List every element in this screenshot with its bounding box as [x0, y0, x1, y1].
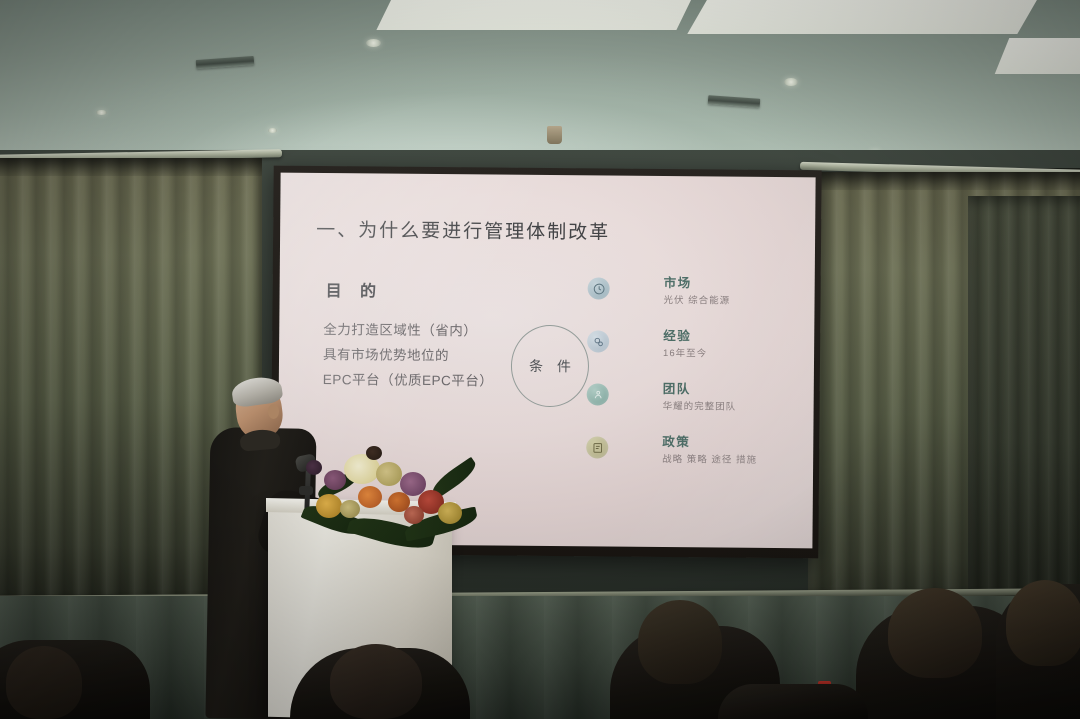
pillar-subtitle: 战略 策略 途径 措施 — [662, 451, 757, 466]
pillar-title: 政策 — [662, 431, 690, 450]
document-icon — [586, 436, 608, 458]
ceiling-downlight — [366, 39, 381, 47]
curtain-far-right — [968, 196, 1080, 606]
ceiling-downlight — [268, 128, 277, 133]
flower-arrangement — [300, 448, 472, 558]
audience-head — [638, 600, 722, 684]
ceiling-panel — [995, 38, 1080, 74]
ceiling-downlight — [96, 110, 107, 115]
audience-head — [330, 644, 422, 719]
pillar-subtitle: 16年至今 — [663, 345, 707, 359]
pillar-item-policy: 政策 战略 策略 途径 措施 — [586, 430, 796, 485]
purpose-heading: 目 的 — [326, 277, 384, 302]
ceiling-vent — [708, 95, 761, 108]
condition-circle-label: 条 件 — [529, 356, 576, 376]
audience-head — [6, 646, 82, 719]
flower-small — [340, 500, 360, 518]
ceiling-vent — [196, 56, 254, 69]
curtain-pleat-header — [808, 172, 1080, 190]
curtain-pleat-header — [0, 158, 262, 176]
audience-head — [1006, 580, 1080, 666]
flower-purple — [324, 470, 346, 490]
flower-yellow — [376, 462, 402, 486]
slide-title: 一、为什么要进行管理体制改革 — [316, 215, 610, 245]
ceiling-downlight — [784, 78, 798, 86]
pillar-item-team: 团队 华耀的完整团队 — [586, 377, 796, 432]
ceiling-panel — [376, 0, 707, 30]
pillar-item-experience: 经验 16年至今 — [587, 324, 797, 379]
flower-gerbera — [316, 494, 342, 518]
photo-scene: 一、为什么要进行管理体制改革 目 的 全力打造区域性（省内） 具有市场优势地位的… — [0, 0, 1080, 719]
purpose-body: 全力打造区域性（省内） 具有市场优势地位的 EPC平台（优质EPC平台） — [323, 317, 494, 393]
compass-icon — [588, 277, 610, 299]
audience-person — [718, 684, 868, 719]
people-icon — [587, 383, 609, 405]
flower-small — [404, 506, 424, 524]
ceiling-speaker-icon — [547, 126, 562, 144]
flower-dark — [306, 460, 322, 475]
ceiling-panel — [687, 0, 1042, 34]
purpose-line: EPC平台（优质EPC平台） — [323, 367, 494, 393]
purpose-line: 全力打造区域性（省内） — [323, 317, 494, 343]
pillar-title: 经验 — [663, 325, 691, 344]
pillar-item-market: 市场 光伏 综合能源 — [587, 271, 797, 326]
flower-orange — [358, 486, 382, 508]
purpose-line: 具有市场优势地位的 — [323, 342, 494, 368]
audience-head — [888, 588, 982, 678]
condition-circle: 条 件 — [511, 325, 590, 408]
pillar-subtitle: 光伏 综合能源 — [663, 292, 730, 307]
pillar-list: 市场 光伏 综合能源 经验 16年至今 — [586, 271, 798, 485]
pillar-subtitle: 华耀的完整团队 — [663, 398, 737, 413]
speaker-ear — [268, 404, 279, 419]
flower-yellow — [438, 502, 462, 524]
gears-icon — [587, 330, 609, 352]
pillar-title: 团队 — [663, 378, 691, 397]
flower-dark — [366, 446, 382, 460]
pillar-title: 市场 — [664, 272, 692, 291]
